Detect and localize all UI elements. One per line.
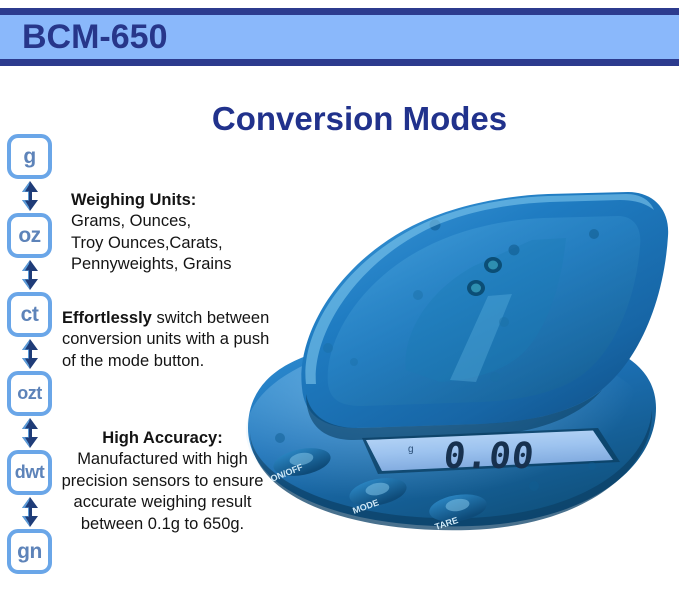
double-arrow-icon xyxy=(7,495,52,529)
lcd-value: 0.00 xyxy=(442,435,537,477)
weighing-units-line3: Pennyweights, Grains xyxy=(71,255,232,273)
unit-node-troy-ounces: ozt xyxy=(7,371,57,416)
double-arrow-icon xyxy=(7,179,52,213)
double-arrow-icon xyxy=(7,337,52,371)
unit-badge-pennyweights[interactable]: dwt xyxy=(7,450,52,495)
double-arrow-icon xyxy=(7,416,52,450)
effortless-switch-lead: Effortlessly xyxy=(62,309,152,327)
unit-badge-grams[interactable]: g xyxy=(7,134,52,179)
unit-node-grams: g xyxy=(7,134,57,179)
high-accuracy-body: Manufactured with high precision sensors… xyxy=(62,450,264,532)
unit-badge-ounces[interactable]: oz xyxy=(7,213,52,258)
double-arrow-icon xyxy=(7,258,52,292)
unit-node-carats: ct xyxy=(7,292,57,337)
weighing-units-line2: Troy Ounces,Carats, xyxy=(71,234,223,252)
unit-node-pennyweights: dwt xyxy=(7,450,57,495)
unit-node-ounces: oz xyxy=(7,213,57,258)
unit-node-grains: gn xyxy=(7,529,57,574)
unit-badge-grains[interactable]: gn xyxy=(7,529,52,574)
lcd-unit-label: g xyxy=(408,444,414,455)
section-title: Conversion Modes xyxy=(0,100,679,138)
header-band: BCM-650 xyxy=(0,8,679,66)
product-image-digital-pocket-scale: g 0.00 ON/OFF MODE TARE xyxy=(236,170,679,545)
weighing-units-heading: Weighing Units: xyxy=(71,191,196,209)
unit-badge-troy-ounces[interactable]: ozt xyxy=(7,371,52,416)
weighing-units-line1: Grams, Ounces, xyxy=(71,212,191,230)
page-title: BCM-650 xyxy=(22,20,167,54)
high-accuracy-heading: High Accuracy: xyxy=(102,429,222,447)
conversion-unit-chain: g oz ct ozt dwt xyxy=(7,134,57,612)
unit-badge-carats[interactable]: ct xyxy=(7,292,52,337)
